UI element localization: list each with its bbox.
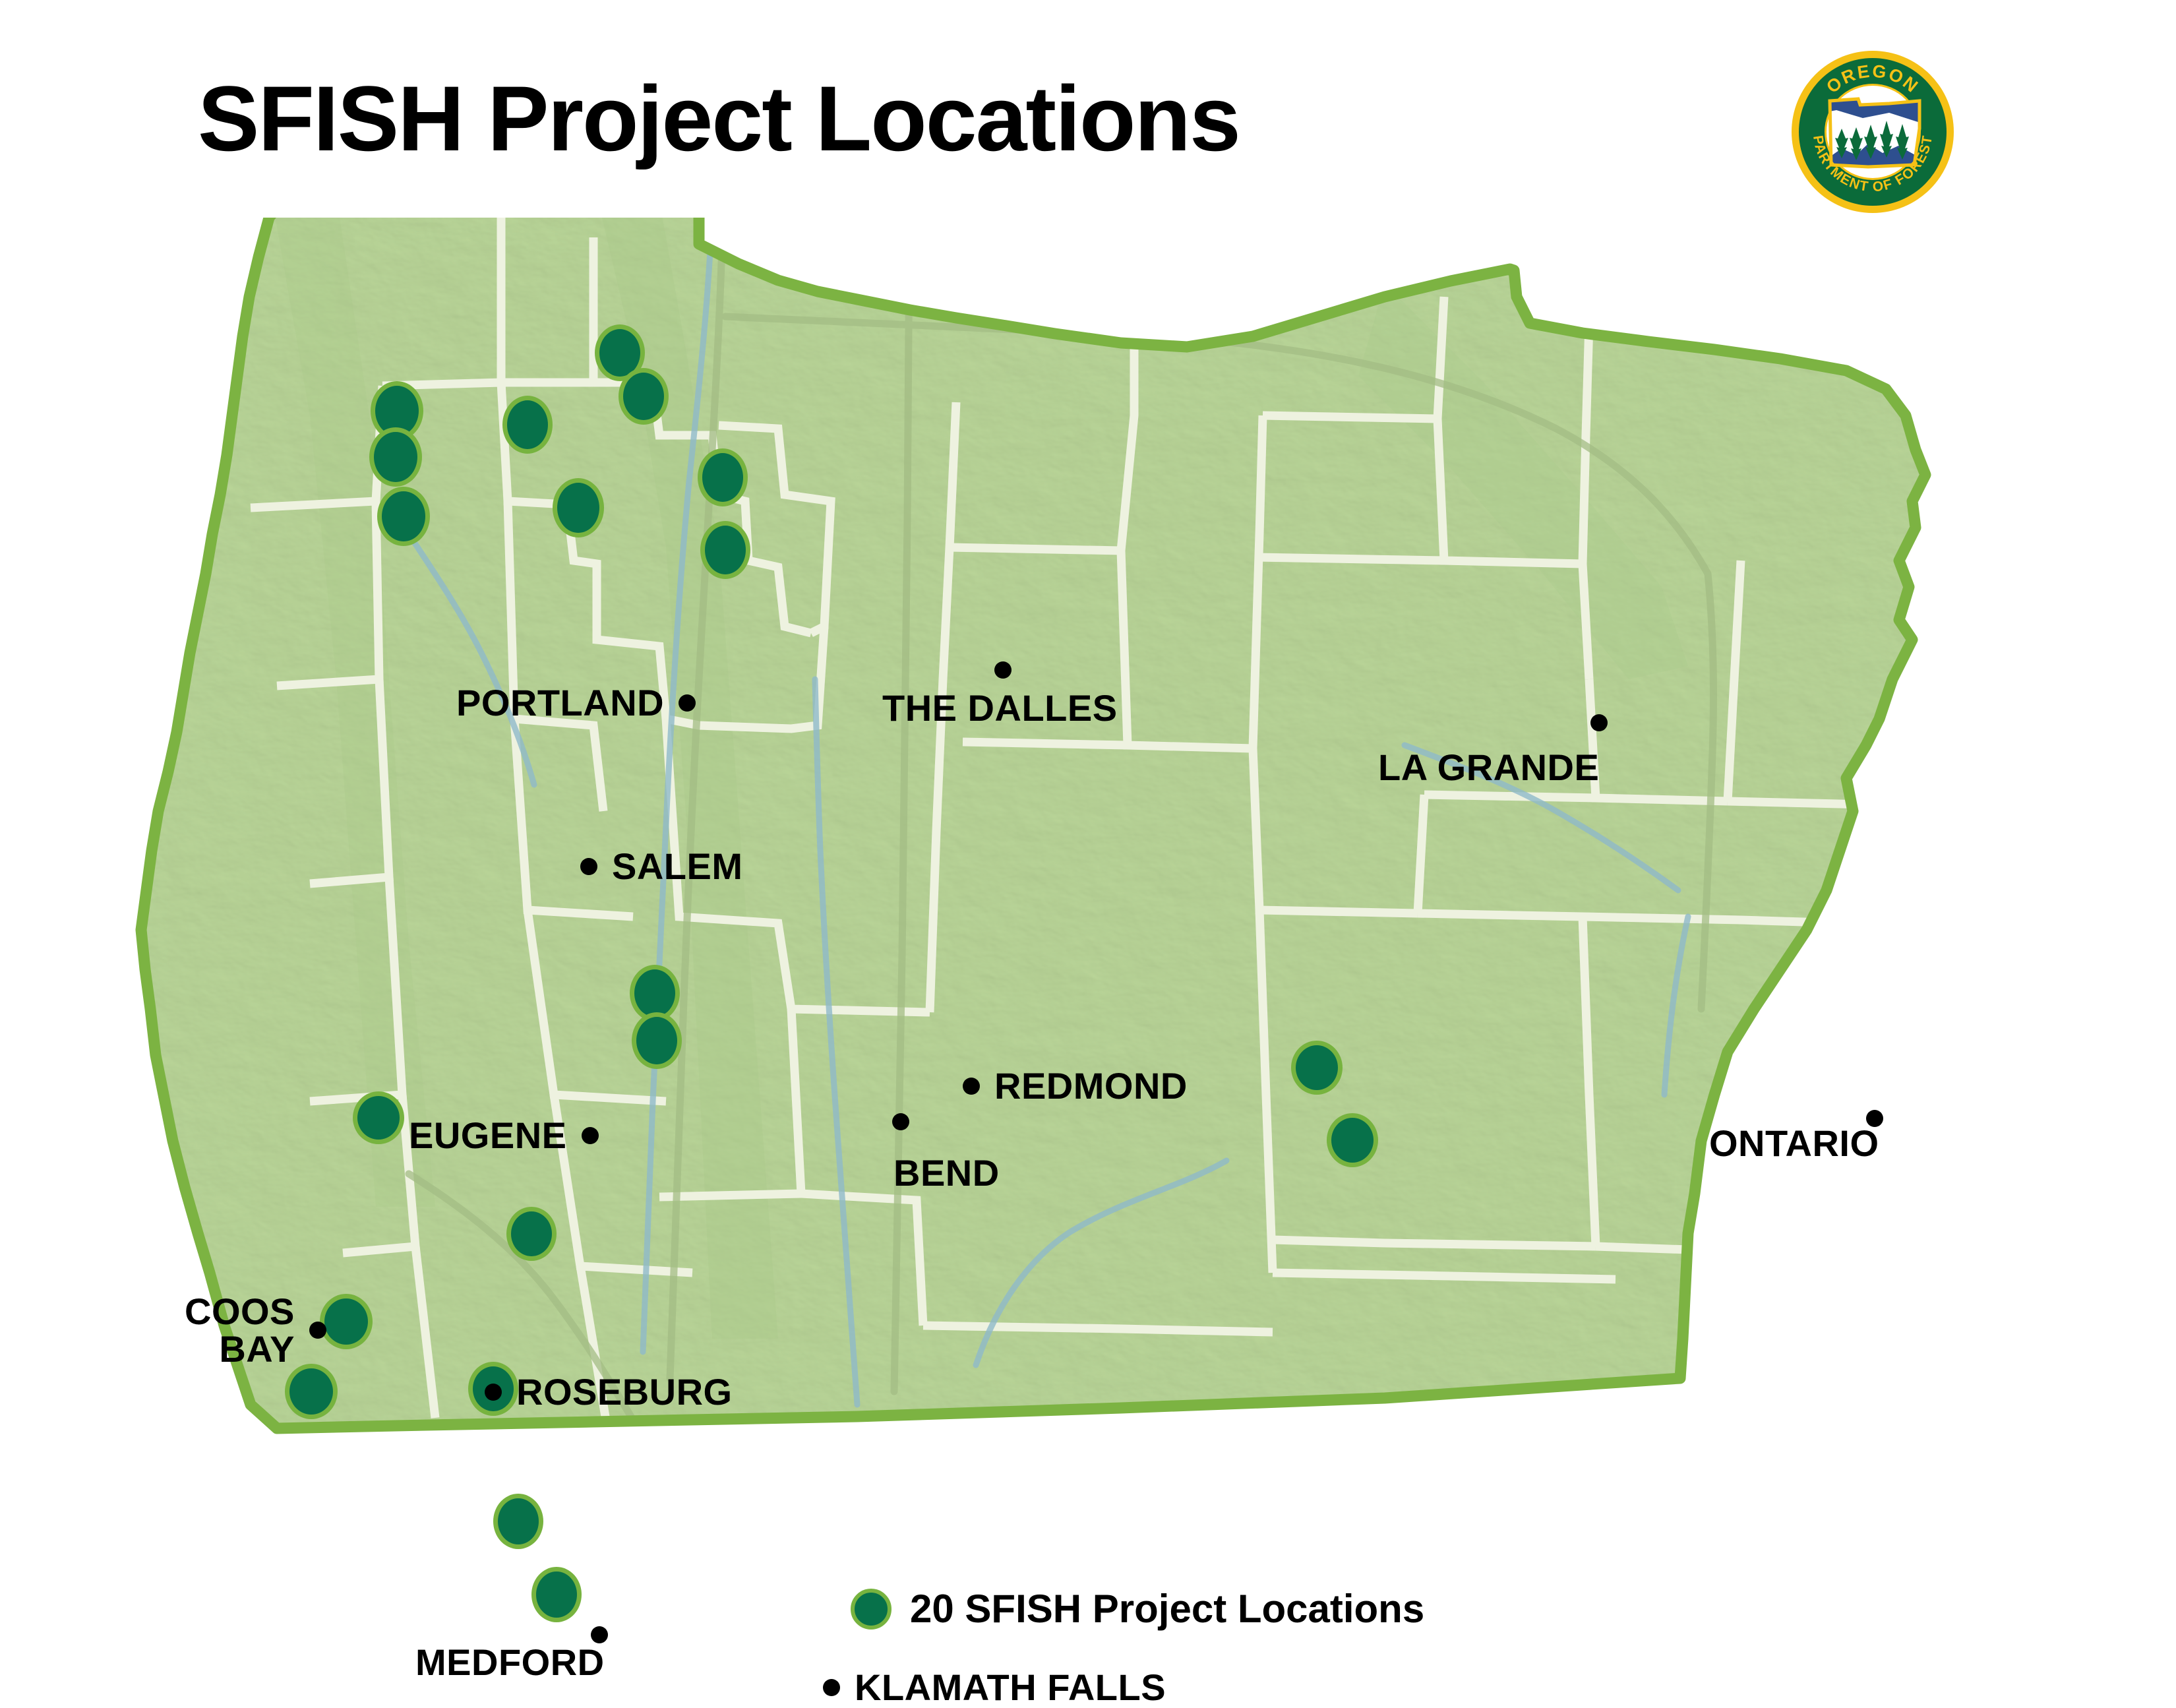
legend-label: 20 SFISH Project Locations	[910, 1586, 1424, 1632]
city-label: BEND	[893, 1154, 1000, 1192]
city-dot	[892, 1113, 909, 1130]
project-marker[interactable]	[506, 1207, 557, 1261]
city-redmond: REDMOND	[963, 1067, 1188, 1105]
project-marker[interactable]	[369, 427, 422, 487]
city-salem: SALEM	[580, 847, 743, 885]
project-marker[interactable]	[1327, 1113, 1378, 1167]
project-marker[interactable]	[700, 521, 750, 579]
odf-seal-logo: OREGON DEPARTMENT OF FORESTRY	[1790, 49, 1955, 214]
city-ontario: ONTARIO	[1709, 1124, 1894, 1162]
project-marker[interactable]	[1291, 1041, 1343, 1095]
city-dot	[1590, 714, 1608, 731]
project-marker[interactable]	[320, 1294, 373, 1349]
city-dot	[580, 858, 597, 875]
city-dot	[309, 1322, 326, 1339]
city-dot	[591, 1626, 608, 1643]
project-marker[interactable]	[493, 1494, 543, 1549]
city-label: ONTARIO	[1709, 1124, 1879, 1162]
project-marker[interactable]	[619, 368, 669, 425]
project-marker[interactable]	[502, 396, 553, 454]
project-marker[interactable]	[632, 1012, 682, 1069]
city-la-grande: LA GRANDE	[1378, 748, 1614, 786]
city-label: COOSBAY	[185, 1293, 295, 1368]
city-label: SALEM	[612, 847, 743, 885]
map-legend: 20 SFISH Project Locations	[851, 1586, 1424, 1632]
city-label: REDMOND	[994, 1067, 1188, 1105]
city-medford: MEDFORD	[415, 1643, 619, 1681]
city-dot	[823, 1679, 840, 1696]
project-marker[interactable]	[377, 487, 430, 546]
city-label: MEDFORD	[415, 1643, 605, 1681]
city-dot	[485, 1384, 502, 1401]
city-roseburg: ROSEBURG	[485, 1373, 733, 1411]
city-portland: PORTLAND	[456, 684, 696, 721]
city-eugene: EUGENE	[409, 1116, 599, 1154]
project-marker[interactable]	[353, 1091, 404, 1144]
city-label: ROSEBURG	[516, 1373, 733, 1411]
city-klamath-falls: KLAMATH FALLS	[823, 1668, 1166, 1706]
city-label: THE DALLES	[882, 689, 1118, 727]
city-bend: BEND	[893, 1154, 1014, 1192]
city-dot	[1866, 1110, 1883, 1127]
project-marker[interactable]	[285, 1364, 338, 1419]
project-marker[interactable]	[531, 1567, 582, 1622]
page-title: SFISH Project Locations	[198, 73, 1240, 165]
project-marker[interactable]	[553, 478, 604, 537]
city-dot	[963, 1078, 980, 1095]
city-label: LA GRANDE	[1378, 748, 1599, 786]
oregon-map: PORTLAND THE DALLES LA GRANDE SALEM REDM…	[0, 218, 2176, 1537]
city-dot	[582, 1127, 599, 1144]
city-label: KLAMATH FALLS	[855, 1668, 1166, 1706]
city-the-dalles: THE DALLES	[882, 689, 1132, 727]
city-coos-bay: COOSBAY	[185, 1293, 326, 1368]
city-dot	[679, 694, 696, 712]
city-dot	[994, 661, 1012, 679]
city-label: EUGENE	[409, 1116, 567, 1154]
city-label: PORTLAND	[456, 684, 664, 721]
legend-marker-swatch	[851, 1589, 892, 1630]
project-marker[interactable]	[698, 448, 748, 506]
